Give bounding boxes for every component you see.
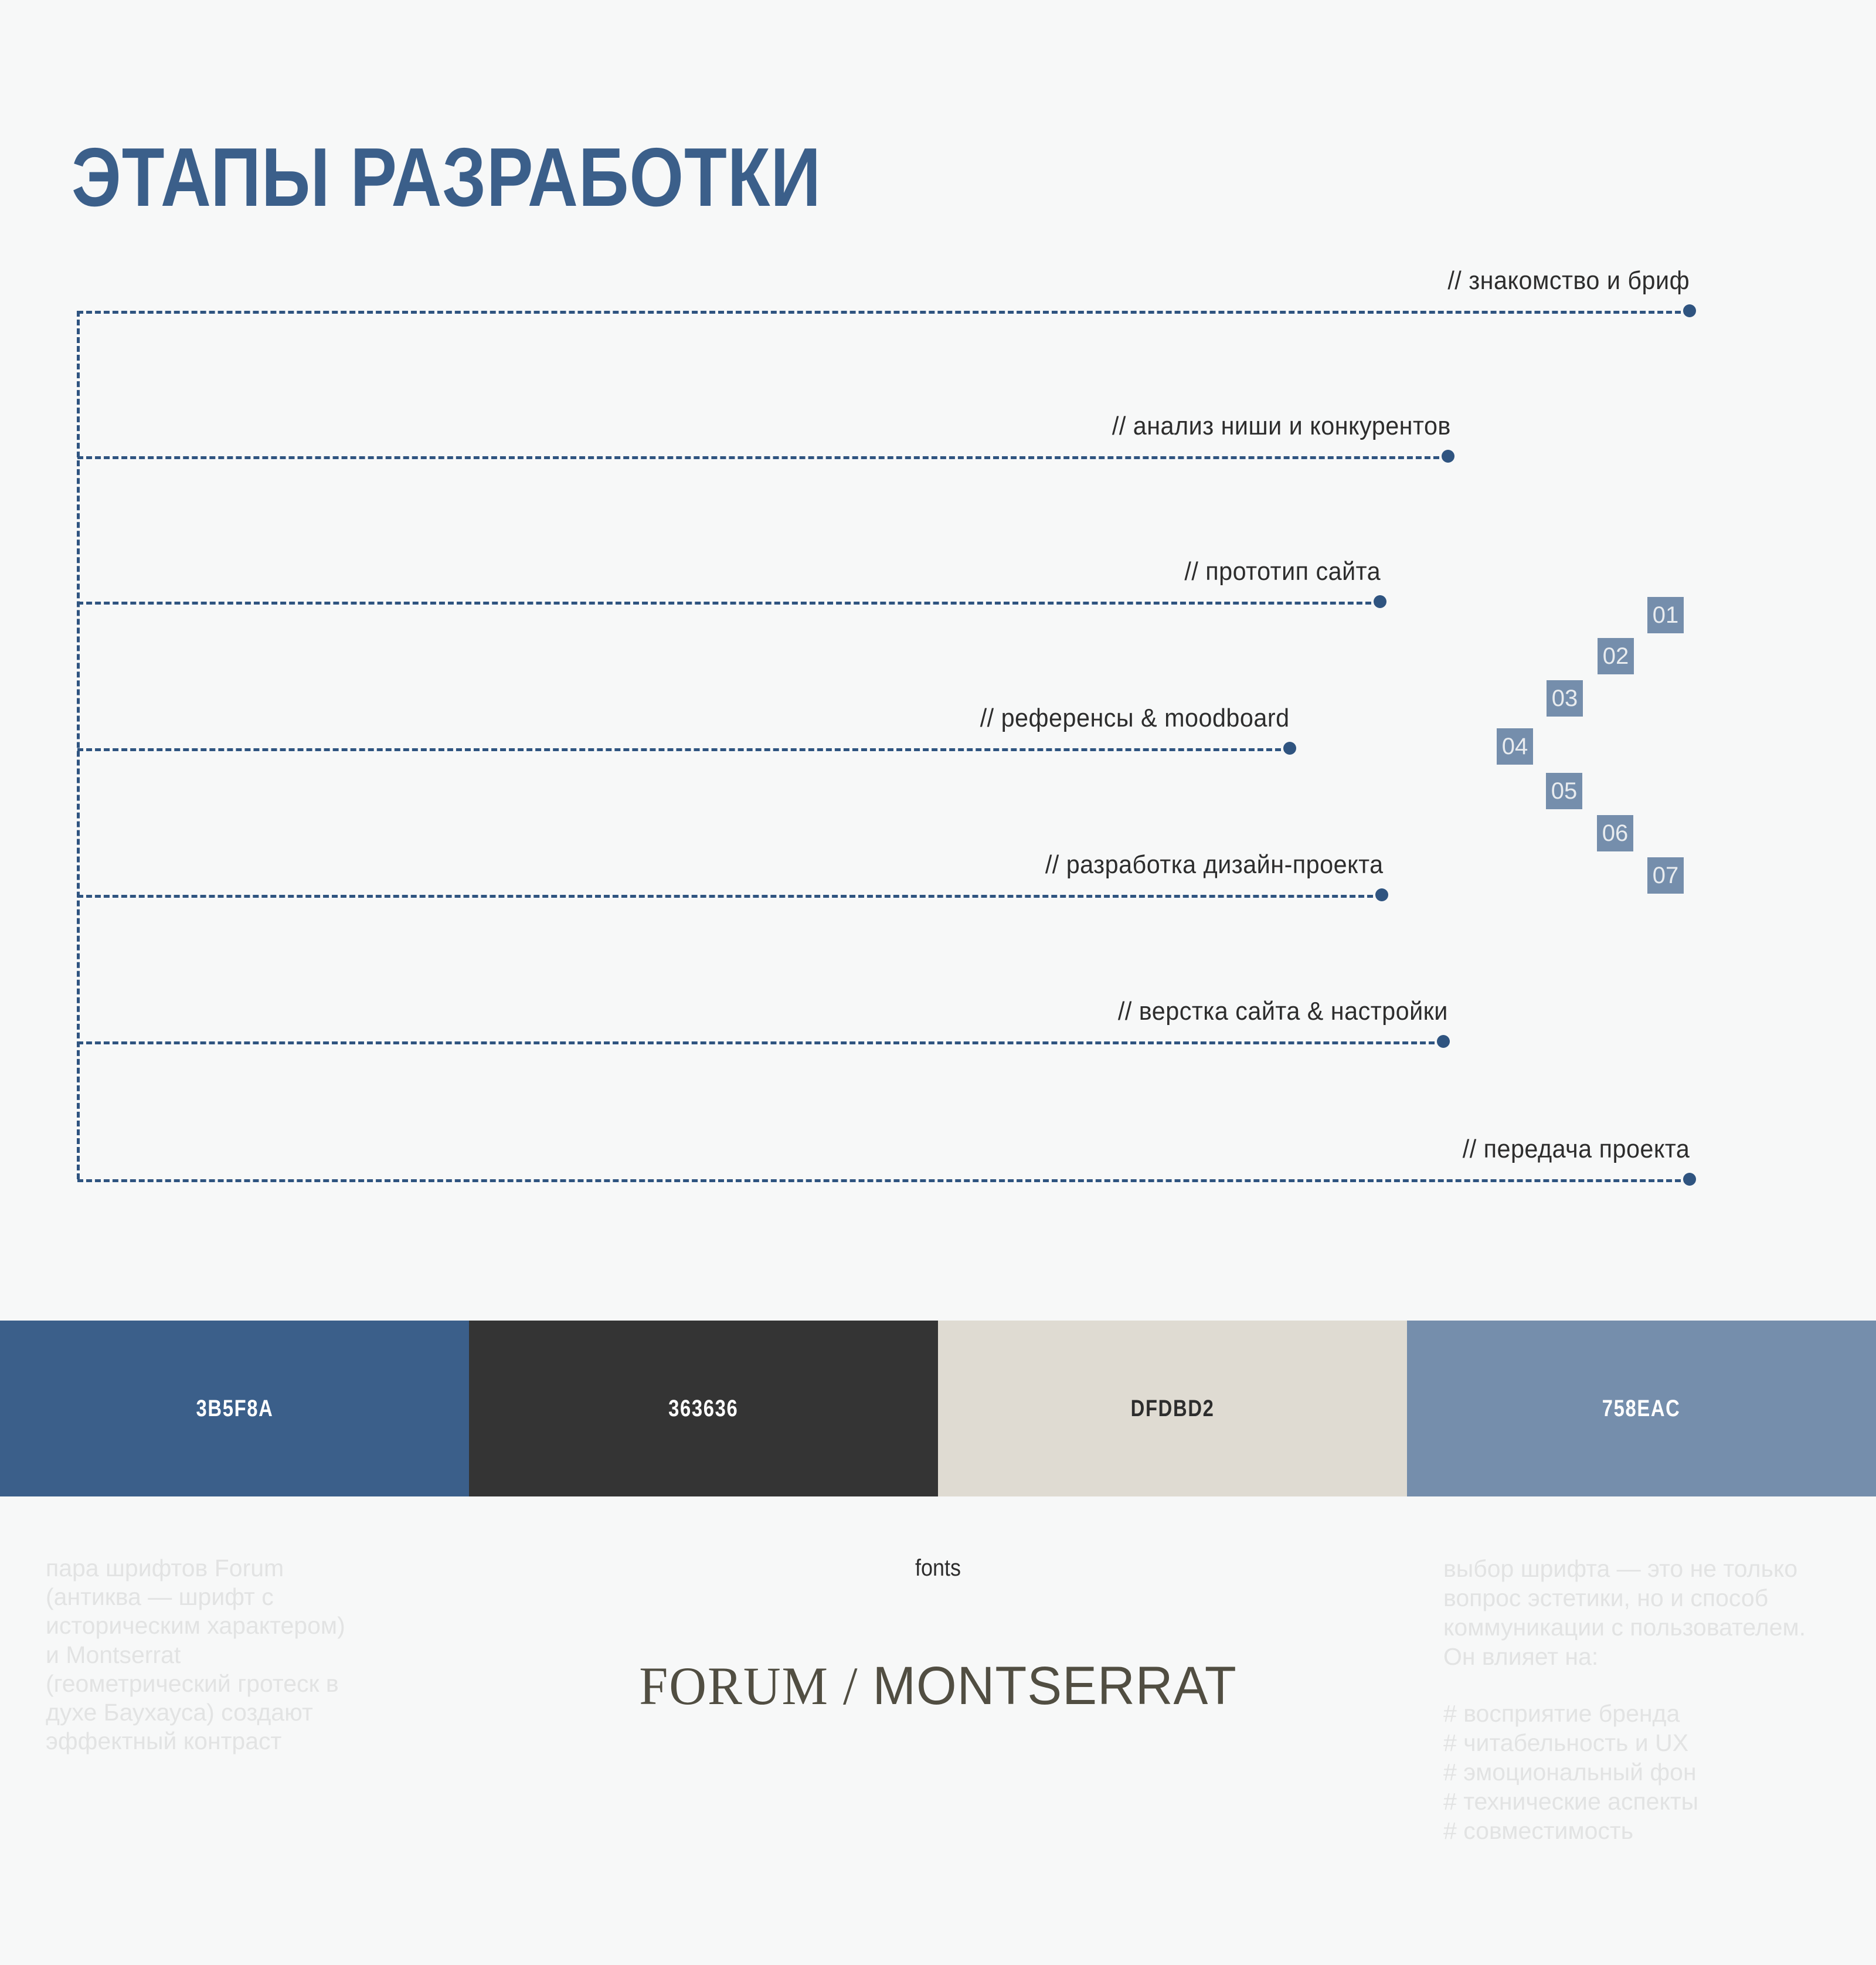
- step-label-4: // референсы & moodboard: [980, 704, 1290, 733]
- color-swatch-4: 758EAC: [1407, 1321, 1876, 1496]
- color-swatch-3: DFDBD2: [938, 1321, 1407, 1496]
- color-swatch-4-hex: 758EAC: [1602, 1396, 1681, 1422]
- step-endpoint-dot: [1375, 888, 1388, 901]
- color-swatch-2: 363636: [469, 1321, 938, 1496]
- step-dashed-line: [77, 1179, 1690, 1182]
- step-dashed-line: [77, 1041, 1443, 1044]
- step-endpoint-dot: [1283, 742, 1296, 755]
- font-name-sans: MONTSERRAT: [872, 1656, 1236, 1716]
- tag-item: # технические аспекты: [1443, 1787, 1830, 1816]
- font-pair-separator: /: [829, 1656, 872, 1716]
- step-dashed-line: [77, 895, 1382, 898]
- timeline-vertical-spine: [77, 311, 80, 1179]
- step-endpoint-dot: [1442, 450, 1454, 463]
- step-label-3: // прототип сайта: [1184, 557, 1381, 586]
- step-dashed-line: [77, 602, 1380, 605]
- step-dashed-line: [77, 456, 1448, 459]
- tag-item: # эмоциональный фон: [1443, 1757, 1830, 1787]
- development-stages-timeline: // знакомство и бриф // анализ ниши и ко…: [0, 0, 1876, 1231]
- step-endpoint-dot: [1374, 595, 1386, 608]
- step-number-badge-02: 02: [1598, 638, 1634, 674]
- step-dashed-line: [77, 748, 1290, 751]
- color-swatch-1: 3B5F8A: [0, 1321, 469, 1496]
- color-palette-strip: 3B5F8A 363636 DFDBD2 758EAC: [0, 1321, 1876, 1496]
- step-number-badge-05: 05: [1546, 773, 1582, 809]
- step-number-badge-04: 04: [1497, 728, 1533, 765]
- step-number-badge-03: 03: [1547, 680, 1583, 717]
- step-number-badge-06: 06: [1597, 815, 1633, 851]
- step-endpoint-dot: [1437, 1035, 1450, 1048]
- color-swatch-2-hex: 363636: [668, 1396, 738, 1422]
- step-label-5: // разработка дизайн-проекта: [1045, 850, 1384, 880]
- right-note-paragraph: выбор шрифта — это не только вопрос эсте…: [1443, 1554, 1830, 1671]
- tag-item: # совместимость: [1443, 1816, 1830, 1845]
- step-number-badge-07: 07: [1647, 857, 1684, 894]
- tag-item: # восприятие бренда: [1443, 1699, 1830, 1728]
- right-note-tag-list: # восприятие бренда # читабельность и UX…: [1443, 1699, 1830, 1845]
- step-label-2: // анализ ниши и конкурентов: [1112, 412, 1451, 441]
- color-swatch-1-hex: 3B5F8A: [196, 1396, 273, 1422]
- step-number-badge-01: 01: [1647, 597, 1684, 633]
- tag-item: # читабельность и UX: [1443, 1728, 1830, 1757]
- bottom-notes-section: пара шрифтов Forum (антиква — шрифт с ис…: [0, 1496, 1876, 1965]
- color-swatch-3-hex: DFDBD2: [1131, 1396, 1215, 1422]
- step-endpoint-dot: [1683, 304, 1696, 317]
- step-label-1: // знакомство и бриф: [1447, 266, 1690, 296]
- step-label-7: // передача проекта: [1462, 1135, 1690, 1164]
- font-name-serif: FORUM: [639, 1656, 829, 1716]
- step-endpoint-dot: [1683, 1173, 1696, 1186]
- step-label-6: // верстка сайта & настройки: [1118, 997, 1448, 1026]
- step-dashed-line: [77, 311, 1690, 314]
